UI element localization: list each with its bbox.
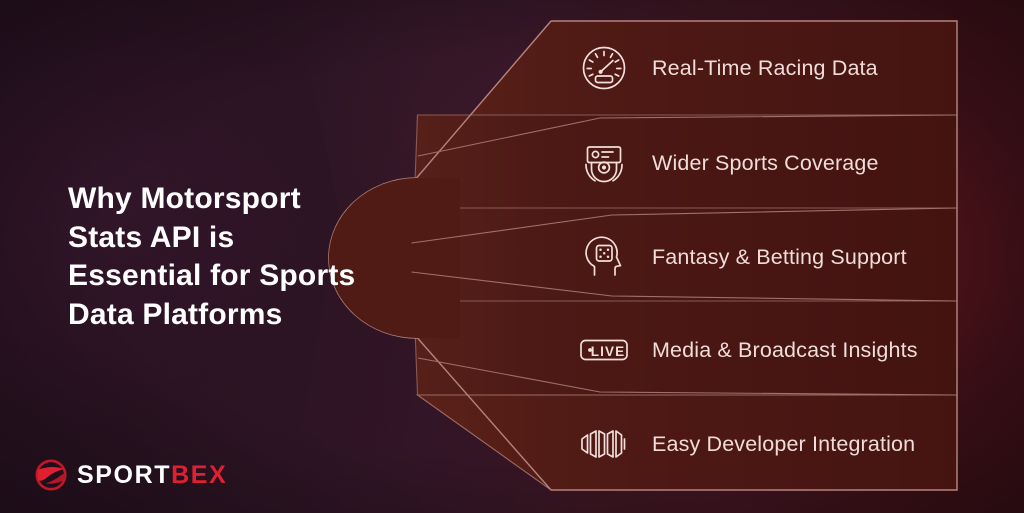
feature-label: Wider Sports Coverage <box>652 151 879 176</box>
feature-row-easy-developer-integration[interactable]: Easy Developer Integration <box>578 418 915 470</box>
feature-label: Fantasy & Betting Support <box>652 245 907 270</box>
feature-row-real-time-racing-data[interactable]: Real-Time Racing Data <box>578 42 878 94</box>
headline-line-4: Data Platforms <box>68 298 283 331</box>
feature-row-fantasy-betting-support[interactable]: Fantasy & Betting Support <box>578 231 907 283</box>
feature-label: Real-Time Racing Data <box>652 56 878 81</box>
feature-label: Media & Broadcast Insights <box>652 338 918 363</box>
headline-line-3: Essential for Sports <box>68 259 355 292</box>
feature-row-media-broadcast-insights[interactable]: LIVE Media & Broadcast Insights <box>578 324 918 376</box>
page-title: Why Motorsport Stats API is Essential fo… <box>68 180 398 335</box>
headline-line-1: Why Motorsport <box>68 182 301 215</box>
feature-label: Easy Developer Integration <box>652 432 915 457</box>
head-dice-icon <box>578 231 630 283</box>
speedometer-icon <box>578 42 630 94</box>
sportbex-swoosh-icon <box>34 458 68 492</box>
logo-text-accent: BEX <box>171 461 227 489</box>
feature-row-wider-sports-coverage[interactable]: Wider Sports Coverage <box>578 137 879 189</box>
sportbex-logo[interactable]: SPORTBEX <box>34 458 227 492</box>
waveform-bars-icon <box>578 418 630 470</box>
broadcast-camera-icon <box>578 137 630 189</box>
live-badge-icon: LIVE <box>578 324 630 376</box>
infographic-canvas: Why Motorsport Stats API is Essential fo… <box>0 0 1024 513</box>
logo-text-primary: SPORT <box>77 461 171 489</box>
svg-text:LIVE: LIVE <box>591 344 625 359</box>
headline-line-2: Stats API is <box>68 221 234 254</box>
sportbex-wordmark: SPORTBEX <box>77 463 227 488</box>
